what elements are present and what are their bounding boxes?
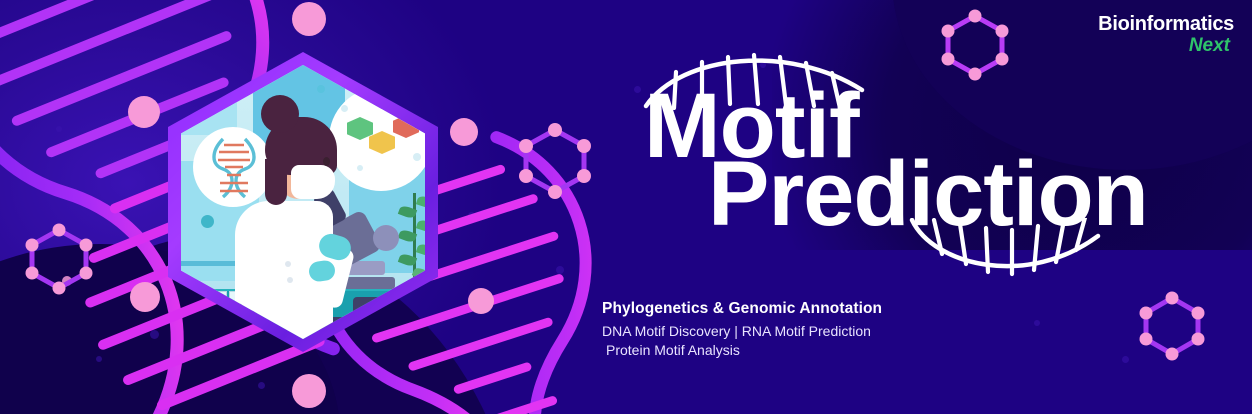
brand-logo[interactable]: Bioinformatics Next xyxy=(1098,14,1234,55)
node-pink-mid-right xyxy=(450,118,478,146)
subtitle-line-2: Protein Motif Analysis xyxy=(606,342,1160,358)
node-pink-upper-left xyxy=(128,96,160,128)
molecule-hexagon-left xyxy=(22,222,96,296)
molecule-hexagon-center xyxy=(516,122,594,200)
subtitle-heading: Phylogenetics & Genomic Annotation xyxy=(602,300,1160,318)
subtitle-line-1: DNA Motif Discovery | RNA Motif Predicti… xyxy=(602,323,1160,339)
illustration-hexagon-frame xyxy=(168,52,438,352)
brand-logo-name: Bioinformatics xyxy=(1098,14,1234,34)
subtitle-block: Phylogenetics & Genomic Annotation DNA M… xyxy=(600,300,1160,361)
node-pink-center xyxy=(468,288,494,314)
node-pink-left xyxy=(130,282,160,312)
node-pink-bottom xyxy=(292,374,326,408)
banner: Motif Prediction Phylogenetics & Genomic… xyxy=(0,0,1252,414)
title-block: Motif Prediction xyxy=(640,48,1100,298)
brand-logo-suffix: Next xyxy=(1098,36,1230,55)
node-pink-top xyxy=(292,2,326,36)
dna-arc-bottom-icon xyxy=(908,218,1104,285)
